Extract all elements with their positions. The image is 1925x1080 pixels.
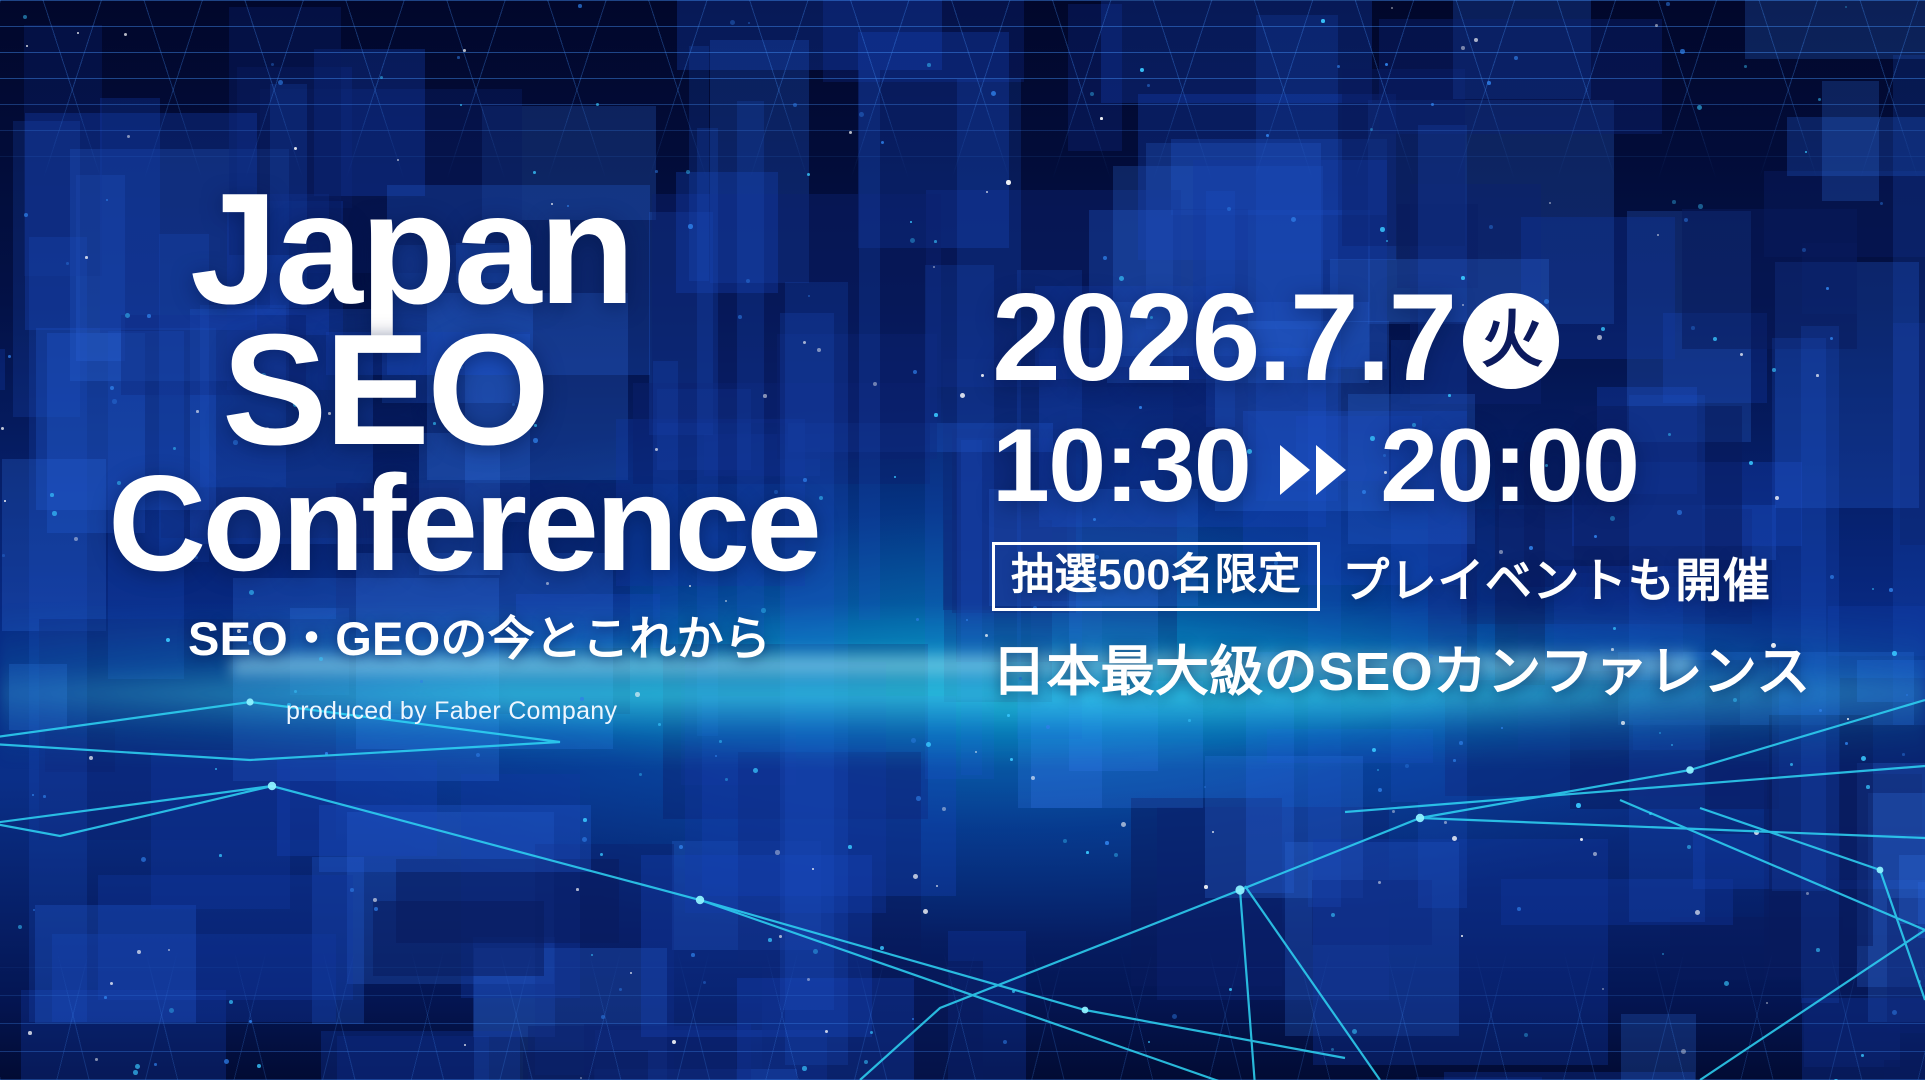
title-line-seo: SEO — [0, 317, 880, 464]
produced-by-credit: produced by Faber Company — [0, 697, 880, 726]
event-tagline: 日本最大級のSEOカンファレンス — [992, 627, 1872, 706]
event-banner: Japan SEO Conference SEO・GEOの今とこれから prod… — [0, 0, 1925, 1080]
event-time-row: 10:30 20:00 — [992, 414, 1872, 518]
event-date: 2026.7.7 — [992, 276, 1455, 400]
lottery-limit-badge: 抽選500名限定 — [992, 542, 1320, 611]
pre-event-note: プレイベントも開催 — [1342, 542, 1770, 611]
double-chevron-right-icon — [1276, 441, 1354, 499]
badge-row: 抽選500名限定 プレイベントも開催 — [992, 542, 1872, 611]
event-time-end: 20:00 — [1380, 414, 1638, 518]
title-line-japan: Japan — [0, 176, 880, 323]
event-date-row: 2026.7.7 火 — [992, 276, 1872, 400]
title-block: Japan SEO Conference SEO・GEOの今とこれから prod… — [0, 176, 880, 726]
title-subtitle: SEO・GEOの今とこれから — [0, 600, 880, 669]
title-line-conference: Conference — [0, 460, 880, 586]
event-time-start: 10:30 — [992, 414, 1250, 518]
day-of-week-badge: 火 — [1463, 293, 1559, 389]
event-info-block: 2026.7.7 火 10:30 20:00 抽選500名限定 プレイベントも開… — [992, 276, 1872, 706]
